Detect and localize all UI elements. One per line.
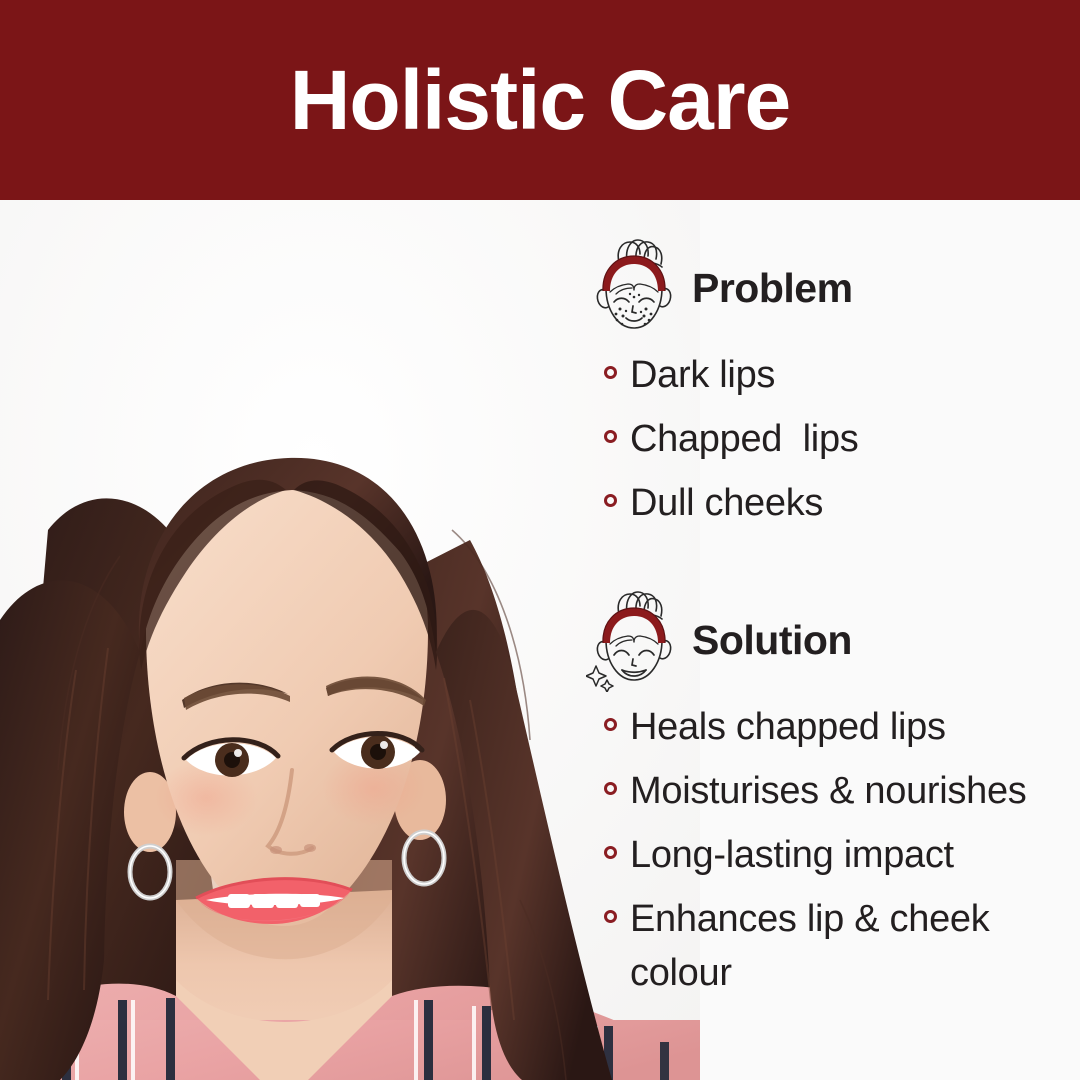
bullet-text: Heals chapped lips bbox=[630, 700, 946, 754]
bullet-text: Dull cheeks bbox=[630, 476, 823, 530]
section-problem: Problem Dark lips Chapped lips Dull chee… bbox=[586, 236, 1080, 530]
content-column: Problem Dark lips Chapped lips Dull chee… bbox=[586, 236, 1080, 1010]
solution-bullet-list: Heals chapped lips Moisturises & nourish… bbox=[586, 700, 1080, 1000]
bullet-marker-icon bbox=[604, 430, 617, 443]
section-title-problem: Problem bbox=[692, 268, 853, 309]
solution-heading: Solution bbox=[586, 588, 1080, 692]
list-item: Dark lips bbox=[586, 348, 1080, 402]
section-solution: Solution Heals chapped lips Moisturises … bbox=[586, 588, 1080, 1000]
list-item: Heals chapped lips bbox=[586, 700, 1080, 754]
problem-heading: Problem bbox=[586, 236, 1080, 340]
list-item: Moisturises & nourishes bbox=[586, 764, 1080, 818]
bullet-marker-icon bbox=[604, 846, 617, 859]
face-with-sparkles-icon bbox=[586, 588, 682, 692]
bullet-marker-icon bbox=[604, 718, 617, 731]
problem-bullet-list: Dark lips Chapped lips Dull cheeks bbox=[586, 348, 1080, 530]
bullet-marker-icon bbox=[604, 910, 617, 923]
bullet-marker-icon bbox=[604, 366, 617, 379]
list-item: Chapped lips bbox=[586, 412, 1080, 466]
bullet-text: Chapped lips bbox=[630, 412, 858, 466]
section-title-solution: Solution bbox=[692, 620, 852, 661]
bullet-marker-icon bbox=[604, 494, 617, 507]
bullet-text: Dark lips bbox=[630, 348, 775, 402]
bullet-text: Moisturises & nourishes bbox=[630, 764, 1026, 818]
bullet-text: Enhances lip & cheek colour bbox=[630, 892, 1080, 1000]
list-item: Dull cheeks bbox=[586, 476, 1080, 530]
holistic-care-infographic: Holistic Care bbox=[0, 0, 1080, 1080]
header-banner: Holistic Care bbox=[0, 0, 1080, 200]
bullet-marker-icon bbox=[604, 782, 617, 795]
page-title: Holistic Care bbox=[290, 58, 791, 142]
list-item: Enhances lip & cheek colour bbox=[586, 892, 1080, 1000]
bullet-text: Long-lasting impact bbox=[630, 828, 954, 882]
face-with-spots-icon bbox=[586, 236, 682, 340]
list-item: Long-lasting impact bbox=[586, 828, 1080, 882]
